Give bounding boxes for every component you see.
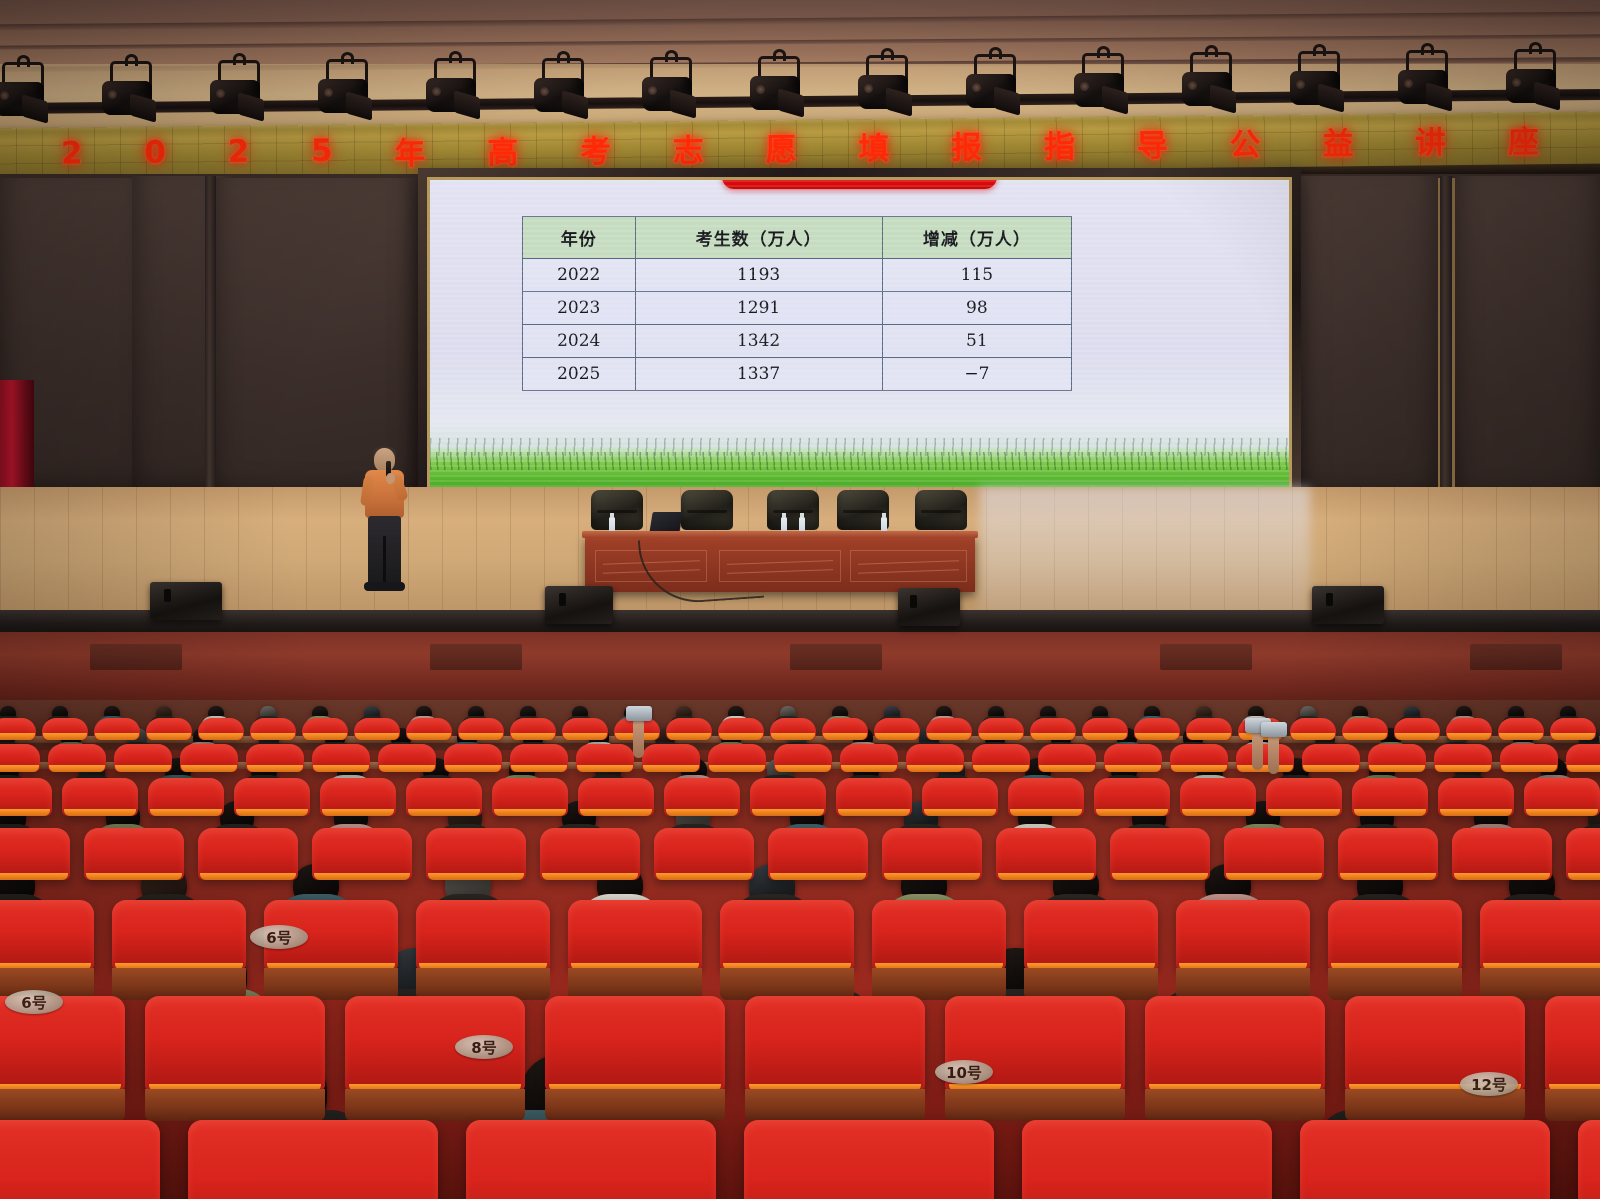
audience-seat[interactable]: [62, 778, 138, 816]
cell-year: 2022: [523, 259, 636, 292]
led-char: 座: [1508, 116, 1539, 161]
light-barndoor: [130, 93, 156, 122]
seat-trim: [719, 733, 763, 740]
table-front-panel: [850, 550, 967, 582]
audience-seat[interactable]: [1094, 778, 1170, 816]
stage-light-fixture: [1504, 49, 1560, 111]
seat-back-wood: [345, 1089, 525, 1121]
seat-trim: [236, 809, 309, 816]
seat-trim: [1369, 765, 1425, 772]
cell-count: 1291: [635, 292, 882, 325]
audience-seat[interactable]: [1290, 718, 1336, 740]
raised-arm: [633, 718, 644, 758]
phone-icon: [626, 706, 652, 721]
audience-seat[interactable]: [0, 744, 40, 772]
seat-number-tag: 10号: [935, 1060, 993, 1084]
audience-seat[interactable]: [188, 1120, 438, 1199]
seat-trim: [1237, 765, 1293, 772]
audience-seat[interactable]: [774, 744, 832, 772]
stage-front-panel: [0, 632, 1600, 706]
audience-seat[interactable]: [94, 718, 140, 740]
audience-seat[interactable]: [1266, 778, 1342, 816]
seat-trim: [1526, 809, 1599, 816]
stage-front-vent: [790, 644, 882, 670]
laptop-screen: [649, 512, 682, 533]
seat-trim: [752, 809, 825, 816]
audience-seat[interactable]: [822, 718, 868, 740]
seat-trim: [1435, 765, 1491, 772]
led-char: 0: [144, 135, 166, 171]
audience-seat[interactable]: [1110, 828, 1210, 880]
audience-seat[interactable]: [745, 996, 925, 1091]
audience-seat[interactable]: [872, 900, 1006, 970]
audience-seat[interactable]: [1038, 744, 1096, 772]
light-lens: [1080, 82, 1089, 91]
audience-seat[interactable]: [666, 718, 712, 740]
seat-trim: [322, 809, 395, 816]
seat-trim: [1395, 733, 1439, 740]
light-lens: [972, 83, 981, 92]
table-row: 2024 1342 51: [523, 325, 1072, 358]
audience-seat[interactable]: [250, 718, 296, 740]
audience-seat[interactable]: [302, 718, 348, 740]
light-barndoor: [1534, 82, 1560, 111]
audience-seat[interactable]: [492, 778, 568, 816]
audience-seat[interactable]: [926, 718, 972, 740]
seat-trim: [667, 733, 711, 740]
audience-seat[interactable]: [1446, 718, 1492, 740]
seat-trim: [841, 765, 897, 772]
seat-trim: [884, 873, 980, 880]
seat-trim: [838, 809, 911, 816]
seat-trim: [0, 765, 39, 772]
light-lens: [0, 91, 9, 100]
seat-trim: [428, 873, 524, 880]
seat-trim: [43, 733, 87, 740]
audience-seat[interactable]: [1024, 900, 1158, 970]
led-char: 导: [1137, 120, 1168, 165]
seat-trim: [313, 765, 369, 772]
audience-seat[interactable]: [1176, 900, 1310, 970]
seat-back-wood: [0, 1089, 125, 1121]
led-char: 愿: [765, 124, 796, 169]
seat-trim: [314, 873, 410, 880]
audience-seat[interactable]: [312, 828, 412, 880]
audience-seat[interactable]: [42, 718, 88, 740]
stage-light-fixture: [640, 57, 696, 119]
seat-trim: [1551, 733, 1595, 740]
audience-seat[interactable]: [426, 828, 526, 880]
seat-trim: [580, 809, 653, 816]
seat-trim: [577, 765, 633, 772]
seat-trim: [1010, 809, 1083, 816]
audience-seat[interactable]: [1368, 744, 1426, 772]
seat-trim: [1454, 873, 1550, 880]
audience-seat[interactable]: [312, 744, 370, 772]
cell-delta: 115: [882, 259, 1071, 292]
audience-seat[interactable]: [198, 828, 298, 880]
light-barndoor: [346, 92, 372, 121]
audience-seat[interactable]: [1394, 718, 1440, 740]
seat-trim: [775, 765, 831, 772]
cell-count: 1193: [635, 259, 882, 292]
seat-trim: [1291, 733, 1335, 740]
seat-trim: [1567, 765, 1600, 772]
led-char: 2: [227, 134, 249, 170]
audience-seat[interactable]: [0, 900, 94, 970]
stage-light-fixture: [1396, 50, 1452, 112]
audience-seat[interactable]: [1328, 900, 1462, 970]
auditorium-photo: 2025年高考志愿填报指导公益讲座 年份 考生数（万人） 增减（万人）: [0, 0, 1600, 1199]
audience-seat[interactable]: [664, 778, 740, 816]
presenter-shoes: [364, 582, 405, 591]
stage-pillar: [205, 176, 216, 512]
audience-seat[interactable]: [996, 828, 1096, 880]
audience-seat[interactable]: [1145, 996, 1325, 1091]
audience-seat[interactable]: [578, 778, 654, 816]
stage-dark-panel: [1278, 176, 1438, 512]
seat-trim: [147, 733, 191, 740]
seat-trim: [1135, 733, 1179, 740]
audience-seat[interactable]: [545, 996, 725, 1091]
stage-light-fixture: [532, 58, 588, 120]
audience-seat[interactable]: [576, 744, 634, 772]
led-char: 公: [1229, 119, 1260, 164]
led-char: 填: [858, 123, 889, 168]
seat-trim: [1226, 873, 1322, 880]
seat-trim: [0, 873, 68, 880]
seat-trim: [666, 809, 739, 816]
seat-back-wood: [1545, 1089, 1600, 1121]
seat-trim: [407, 733, 451, 740]
audience-seat[interactable]: [378, 744, 436, 772]
stage-light-fixture: [100, 61, 156, 123]
led-char: 益: [1322, 118, 1353, 163]
audience-seat[interactable]: [1338, 828, 1438, 880]
audience-seat[interactable]: [1500, 744, 1558, 772]
stage-front-vent: [430, 644, 522, 670]
presenter-trousers: [368, 516, 401, 584]
seat-back-wood: [945, 1089, 1125, 1121]
seat-number-tag: 6号: [5, 990, 63, 1014]
light-barndoor: [454, 91, 480, 120]
seat-trim: [1568, 873, 1600, 880]
seat-trim: [494, 809, 567, 816]
audience-seat[interactable]: [444, 744, 502, 772]
seat-trim: [1499, 733, 1543, 740]
phone-icon: [1261, 722, 1287, 737]
audience-seat[interactable]: [708, 744, 766, 772]
light-barndoor: [670, 89, 696, 118]
seat-trim: [1354, 809, 1427, 816]
ceiling-beam: [0, 34, 1600, 49]
audience-seat[interactable]: [145, 996, 325, 1091]
seat-trim: [1083, 733, 1127, 740]
stage-monitor-speaker: [1312, 586, 1384, 624]
led-char: 讲: [1415, 117, 1446, 162]
cell-year: 2024: [523, 325, 636, 358]
seat-trim: [770, 873, 866, 880]
audience-seat[interactable]: [1578, 1120, 1600, 1199]
audience-seat[interactable]: [1452, 828, 1552, 880]
stage-light-fixture: [424, 58, 480, 120]
audience-seat[interactable]: [1236, 744, 1294, 772]
seat-trim: [1096, 809, 1169, 816]
audience-seat[interactable]: [874, 718, 920, 740]
stage-light-fixture: [1180, 52, 1236, 114]
audience-seat[interactable]: [416, 900, 550, 970]
seat-trim: [998, 873, 1094, 880]
seat-trim: [95, 733, 139, 740]
audience-seat[interactable]: [1186, 718, 1232, 740]
audience-seat[interactable]: [906, 744, 964, 772]
audience-seat[interactable]: [1302, 744, 1360, 772]
light-barndoor: [238, 92, 264, 121]
stage-monitor-speaker: [898, 588, 960, 626]
seat-trim: [1171, 765, 1227, 772]
seat-trim: [709, 765, 765, 772]
stage-light-fixture: [856, 55, 912, 117]
audience-seat[interactable]: [1104, 744, 1162, 772]
table-header-row: 年份 考生数（万人） 增减（万人）: [523, 217, 1072, 259]
audience-seat[interactable]: [1224, 828, 1324, 880]
audience-seat[interactable]: [1342, 718, 1388, 740]
cell-count: 1337: [635, 358, 882, 391]
light-barndoor: [22, 94, 48, 123]
stage-light-fixture: [1288, 51, 1344, 113]
light-barndoor: [1210, 84, 1236, 113]
seat-trim: [1340, 873, 1436, 880]
cell-year: 2023: [523, 292, 636, 325]
light-barndoor: [1426, 83, 1452, 112]
audience-seat[interactable]: [1134, 718, 1180, 740]
audience-seat[interactable]: [354, 718, 400, 740]
audience-seat[interactable]: [0, 778, 52, 816]
exam-statistics-table: 年份 考生数（万人） 增减（万人） 2022 1193 115 2023 129…: [522, 216, 1072, 391]
stage-light-fixture: [316, 59, 372, 121]
stage-light-fixture: [208, 60, 264, 122]
audience-seat[interactable]: [882, 828, 982, 880]
seat-trim: [924, 809, 997, 816]
seat-trim: [643, 765, 699, 772]
audience-seat[interactable]: [1566, 828, 1600, 880]
seat-trim: [979, 733, 1023, 740]
seat-trim: [1187, 733, 1231, 740]
audience-seat[interactable]: [112, 900, 246, 970]
audience-seat[interactable]: [1352, 778, 1428, 816]
stage-front-vent: [90, 644, 182, 670]
seat-trim: [656, 873, 752, 880]
audience-seat[interactable]: [48, 744, 106, 772]
seat-back-wood: [1145, 1089, 1325, 1121]
seat-trim: [445, 765, 501, 772]
audience-seat[interactable]: [466, 1120, 716, 1199]
presenter-speaker: [360, 448, 408, 594]
seat-trim: [0, 733, 35, 740]
audience-seat[interactable]: [978, 718, 1024, 740]
light-barndoor: [1102, 85, 1128, 114]
floor-reflection: [980, 487, 1310, 620]
audience-area: 6号6号8号10号12号: [0, 700, 1600, 1199]
seat-trim: [0, 809, 50, 816]
seat-trim: [511, 765, 567, 772]
projection-screen[interactable]: 年份 考生数（万人） 增减（万人） 2022 1193 115 2023 129…: [427, 177, 1292, 495]
audience-seat[interactable]: [320, 778, 396, 816]
table-row: 2023 1291 98: [523, 292, 1072, 325]
seat-trim: [1105, 765, 1161, 772]
audience-seat[interactable]: [1566, 744, 1600, 772]
audience-seat[interactable]: [1008, 778, 1084, 816]
audience-seat[interactable]: [1524, 778, 1600, 816]
led-char: 年: [394, 127, 425, 172]
stage-monitor-speaker: [545, 586, 613, 624]
led-char: 2: [61, 136, 83, 172]
stage-light-fixture: [964, 54, 1020, 116]
audience-seat[interactable]: [540, 828, 640, 880]
raised-arm: [1268, 734, 1279, 774]
cell-count: 1342: [635, 325, 882, 358]
seat-number-tag: 8号: [455, 1035, 513, 1059]
audience-seat[interactable]: [1545, 996, 1600, 1091]
seat-trim: [355, 733, 399, 740]
audience-seat[interactable]: [972, 744, 1030, 772]
audience-seat[interactable]: [246, 744, 304, 772]
audience-seat[interactable]: [406, 718, 452, 740]
audience-seat[interactable]: [770, 718, 816, 740]
audience-seat[interactable]: [1550, 718, 1596, 740]
seat-trim: [379, 765, 435, 772]
audience-seat[interactable]: [840, 744, 898, 772]
seat-trim: [1031, 733, 1075, 740]
stage-dark-panel: [1455, 176, 1600, 516]
seat-trim: [251, 733, 295, 740]
stage-front-vent: [1470, 644, 1562, 670]
seat-trim: [973, 765, 1029, 772]
audience-seat[interactable]: [148, 778, 224, 816]
audience-seat[interactable]: [84, 828, 184, 880]
stage-front-vent: [1160, 644, 1252, 670]
audience-seat[interactable]: [922, 778, 998, 816]
audience-seat[interactable]: [568, 900, 702, 970]
seat-trim: [1182, 809, 1255, 816]
cell-delta: −7: [882, 358, 1071, 391]
audience-seat[interactable]: [458, 718, 504, 740]
table-top-edge: [582, 531, 978, 538]
seat-trim: [459, 733, 503, 740]
seat-trim: [771, 733, 815, 740]
conference-chair: [681, 490, 733, 530]
seat-trim: [1112, 873, 1208, 880]
audience-seat[interactable]: [744, 1120, 994, 1199]
presenter-head: [374, 448, 395, 472]
audience-seat[interactable]: [562, 718, 608, 740]
seat-back-wood: [745, 1089, 925, 1121]
light-barndoor: [562, 90, 588, 119]
seat-trim: [1440, 809, 1513, 816]
audience-seat[interactable]: [836, 778, 912, 816]
seat-trim: [1303, 765, 1359, 772]
audience-seat[interactable]: [0, 1120, 160, 1199]
audience-seat[interactable]: [406, 778, 482, 816]
audience-seat[interactable]: [1480, 900, 1600, 970]
seat-trim: [542, 873, 638, 880]
seat-trim: [64, 809, 137, 816]
audience-seat[interactable]: [114, 744, 172, 772]
seat-number-tag: 6号: [250, 925, 308, 949]
seat-trim: [303, 733, 347, 740]
seat-trim: [1268, 809, 1341, 816]
audience-seat[interactable]: [1434, 744, 1492, 772]
seat-trim: [150, 809, 223, 816]
presenter-hand: [386, 473, 395, 484]
cell-year: 2025: [523, 358, 636, 391]
seat-trim: [181, 765, 237, 772]
seat-trim: [1343, 733, 1387, 740]
table-row: 2025 1337 −7: [523, 358, 1072, 391]
audience-seat[interactable]: [1180, 778, 1256, 816]
audience-seat[interactable]: [146, 718, 192, 740]
seat-trim: [927, 733, 971, 740]
column-header-delta: 增减（万人）: [882, 217, 1071, 259]
audience-seat[interactable]: [642, 744, 700, 772]
projection-screen-frame: 年份 考生数（万人） 增减（万人） 2022 1193 115 2023 129…: [418, 168, 1301, 504]
stage-light-fixture: [748, 56, 804, 118]
audience-seat[interactable]: [198, 718, 244, 740]
seat-trim: [1039, 765, 1095, 772]
seat-trim: [408, 809, 481, 816]
light-lens: [756, 85, 765, 94]
led-char: 报: [951, 122, 982, 167]
audience-seat[interactable]: [1030, 718, 1076, 740]
audience-seat[interactable]: [1498, 718, 1544, 740]
audience-seat[interactable]: [768, 828, 868, 880]
table-row: 2022 1193 115: [523, 259, 1072, 292]
audience-seat[interactable]: [1170, 744, 1228, 772]
column-header-count: 考生数（万人）: [635, 217, 882, 259]
stage-pillar: [1440, 176, 1452, 514]
audience-seat[interactable]: [234, 778, 310, 816]
audience-seat[interactable]: [654, 828, 754, 880]
light-barndoor: [994, 86, 1020, 115]
audience-seat[interactable]: [0, 718, 36, 740]
seat-trim: [247, 765, 303, 772]
audience-seat[interactable]: [0, 828, 70, 880]
seat-back-wood: [545, 1089, 725, 1121]
cell-delta: 51: [882, 325, 1071, 358]
light-barndoor: [886, 87, 912, 116]
slide-red-banner-decor: [722, 177, 997, 189]
seat-trim: [49, 765, 105, 772]
audience-seat[interactable]: [750, 778, 826, 816]
audience-seat[interactable]: [510, 718, 556, 740]
audience-seat[interactable]: [1300, 1120, 1550, 1199]
led-char: 指: [1044, 121, 1075, 166]
seat-trim: [200, 873, 296, 880]
conference-chair: [591, 490, 643, 530]
audience-seat[interactable]: [180, 744, 238, 772]
led-char: 高: [487, 126, 518, 171]
led-char: 考: [580, 125, 611, 170]
seat-trim: [563, 733, 607, 740]
audience-seat[interactable]: [1438, 778, 1514, 816]
light-lens: [540, 87, 549, 96]
audience-seat[interactable]: [510, 744, 568, 772]
audience-seat[interactable]: [720, 900, 854, 970]
audience-seat[interactable]: [1082, 718, 1128, 740]
audience-seat[interactable]: [718, 718, 764, 740]
stage-light-fixture: [1072, 53, 1128, 115]
audience-seat[interactable]: [1022, 1120, 1272, 1199]
